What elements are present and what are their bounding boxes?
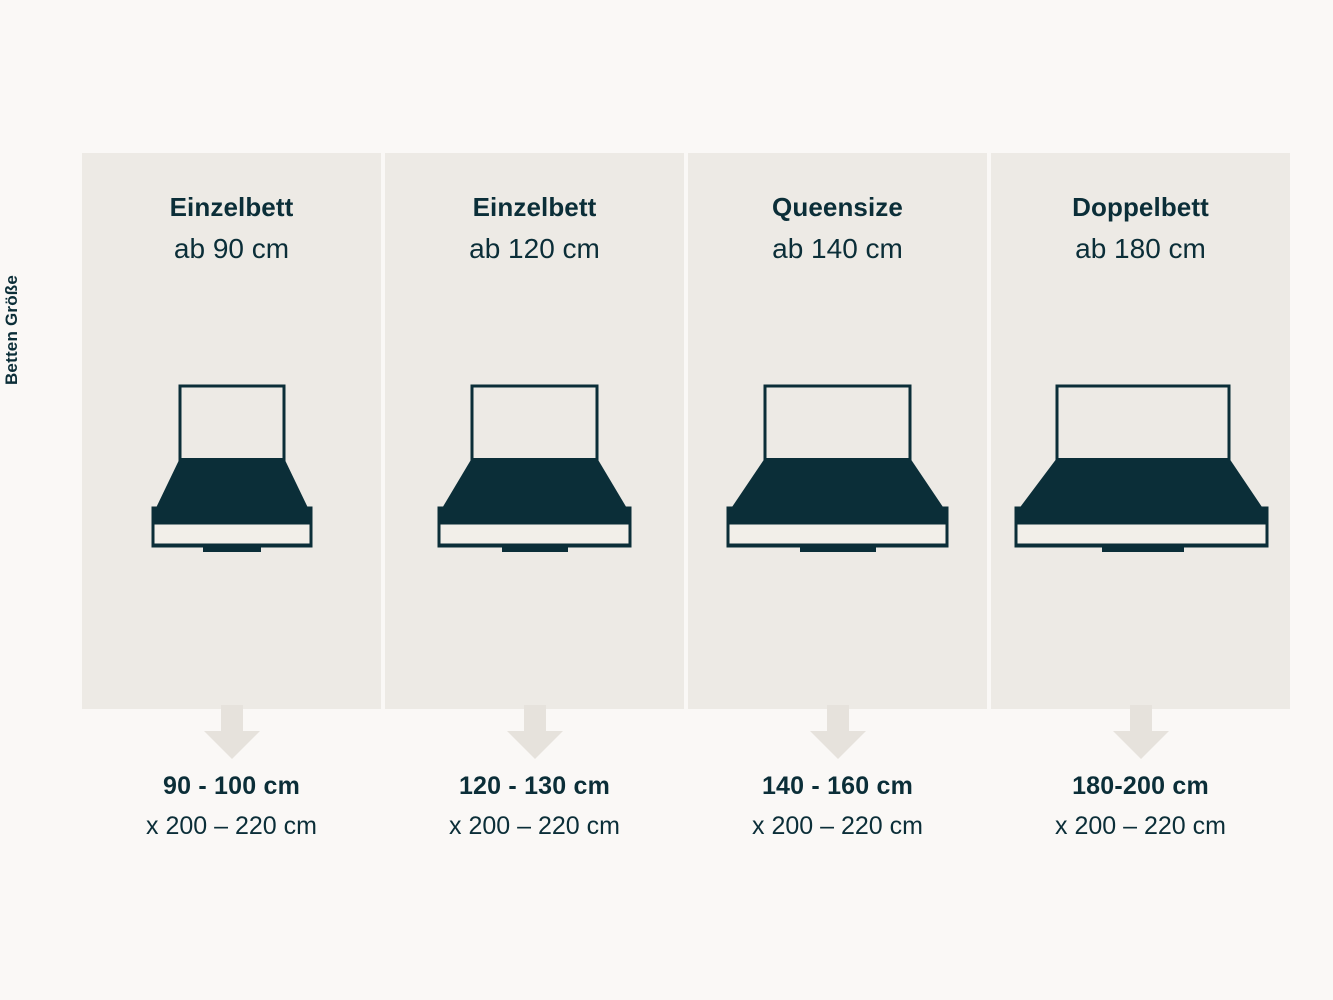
down-arrow-icon — [806, 705, 870, 761]
column-subtitle: ab 140 cm — [772, 232, 903, 266]
axis-label-betten-groesse: Betten Größe — [0, 230, 24, 430]
column-title: Doppelbett — [1072, 191, 1209, 224]
caption-sub: x 200 – 220 cm — [385, 808, 684, 844]
caption-einzelbett-120: 120 - 130 cm x 200 – 220 cm — [385, 770, 684, 844]
down-arrow-icon — [200, 705, 264, 761]
column-title: Queensize — [772, 191, 903, 224]
bed-illustration-wrap — [82, 382, 381, 554]
caption-sub: x 200 – 220 cm — [688, 808, 987, 844]
column-subtitle: ab 120 cm — [469, 232, 600, 266]
caption-main: 90 - 100 cm — [82, 770, 381, 804]
size-columns: Einzelbett ab 90 cm Einzelbett ab 12 — [82, 153, 1290, 709]
caption-einzelbett-90: 90 - 100 cm x 200 – 220 cm — [82, 770, 381, 844]
down-arrow-icon — [503, 705, 567, 761]
caption-doppelbett-180: 180-200 cm x 200 – 220 cm — [991, 770, 1290, 844]
down-arrow-icon — [1109, 705, 1173, 761]
size-column-doppelbett-180[interactable]: Doppelbett ab 180 cm — [991, 153, 1290, 709]
caption-sub: x 200 – 220 cm — [82, 808, 381, 844]
caption-main: 140 - 160 cm — [688, 770, 987, 804]
caption-queensize-140: 140 - 160 cm x 200 – 220 cm — [688, 770, 987, 844]
caption-main: 120 - 130 cm — [385, 770, 684, 804]
size-column-einzelbett-90[interactable]: Einzelbett ab 90 cm — [82, 153, 381, 709]
bed-illustration-wrap — [385, 382, 684, 554]
bed-illustration-wrap — [991, 382, 1290, 554]
size-captions: 90 - 100 cm x 200 – 220 cm 120 - 130 cm … — [82, 770, 1290, 844]
size-column-einzelbett-120[interactable]: Einzelbett ab 120 cm — [385, 153, 684, 709]
caption-sub: x 200 – 220 cm — [991, 808, 1290, 844]
bed-icon — [1007, 382, 1275, 554]
bed-icon — [147, 382, 317, 554]
column-subtitle: ab 90 cm — [174, 232, 289, 266]
caption-main: 180-200 cm — [991, 770, 1290, 804]
column-title: Einzelbett — [170, 191, 294, 224]
bed-icon — [432, 382, 637, 554]
bed-size-infographic: Betten Größe Einzelbett ab 90 cm — [0, 0, 1333, 1000]
column-subtitle: ab 180 cm — [1075, 232, 1206, 266]
bed-illustration-wrap — [688, 382, 987, 554]
bed-icon — [720, 382, 955, 554]
column-title: Einzelbett — [473, 191, 597, 224]
size-column-queensize-140[interactable]: Queensize ab 140 cm — [688, 153, 987, 709]
